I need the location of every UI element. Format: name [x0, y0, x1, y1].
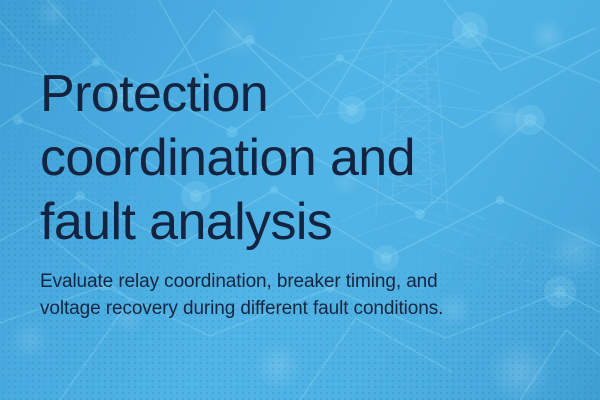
- hero-copy-block: Protection coordination and fault analys…: [40, 62, 560, 322]
- hero-banner: Protection coordination and fault analys…: [0, 0, 600, 400]
- page-title: Protection coordination and fault analys…: [40, 62, 560, 254]
- page-subtitle: Evaluate relay coordination, breaker tim…: [40, 268, 560, 322]
